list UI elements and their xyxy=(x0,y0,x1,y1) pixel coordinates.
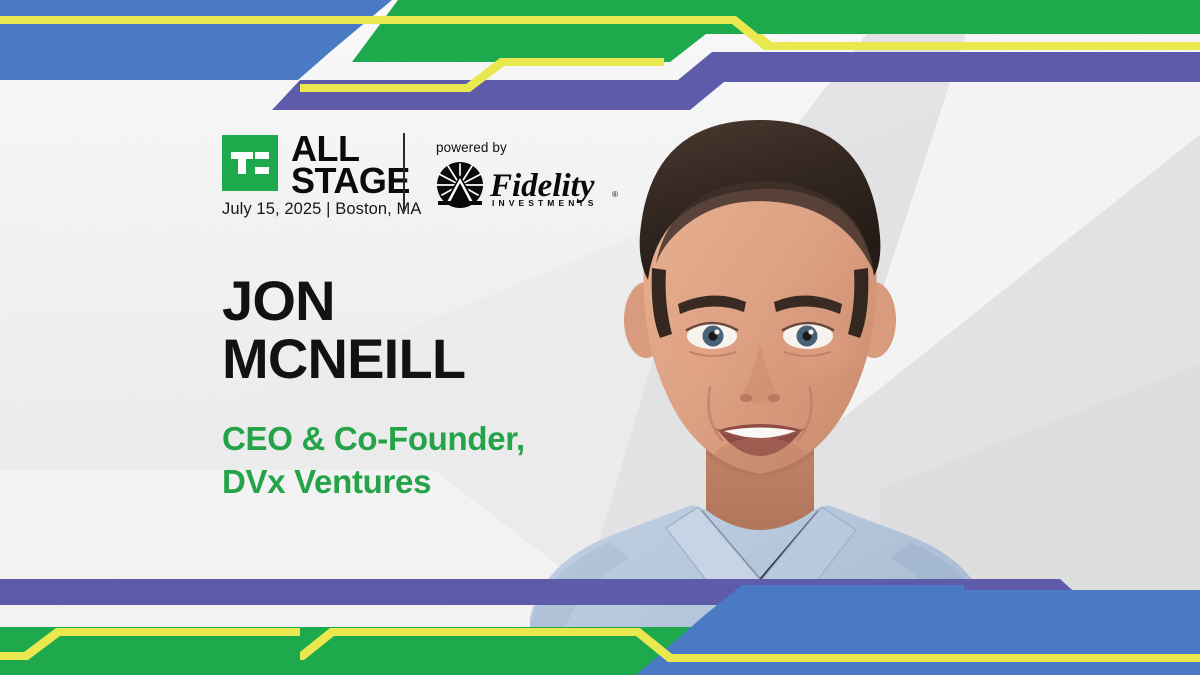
speaker-last-name: MCNEILL xyxy=(222,330,465,388)
techcrunch-mark-icon xyxy=(222,135,278,191)
fidelity-pyramid-starburst-icon xyxy=(437,162,483,208)
sponsor-registered-mark: ® xyxy=(612,190,618,199)
speaker-name: JON MCNEILL xyxy=(222,272,465,388)
speaker-first-name: JON xyxy=(222,272,465,330)
speaker-title: CEO & Co-Founder, DVx Ventures xyxy=(222,418,525,504)
speaker-title-line2: DVx Ventures xyxy=(222,461,525,504)
speaker-title-line1: CEO & Co-Founder, xyxy=(222,418,525,461)
fidelity-logo: Fidelity ® INVESTMENTS xyxy=(434,161,620,209)
sponsor-prefix: powered by xyxy=(436,140,624,155)
lockup-divider xyxy=(403,133,405,211)
sponsor-lockup: powered by xyxy=(434,140,624,209)
techcrunch-logo: ALL STAGE xyxy=(222,133,410,198)
event-logo-lockup: ALL STAGE xyxy=(222,133,410,198)
event-name: ALL STAGE xyxy=(291,133,410,198)
speaker-announcement-card: ALL STAGE July 15, 2025 | Boston, MA pow… xyxy=(0,0,1200,675)
sponsor-tagline: INVESTMENTS xyxy=(492,198,598,208)
event-name-line2: STAGE xyxy=(291,165,410,197)
event-date-location: July 15, 2025 | Boston, MA xyxy=(222,200,422,219)
